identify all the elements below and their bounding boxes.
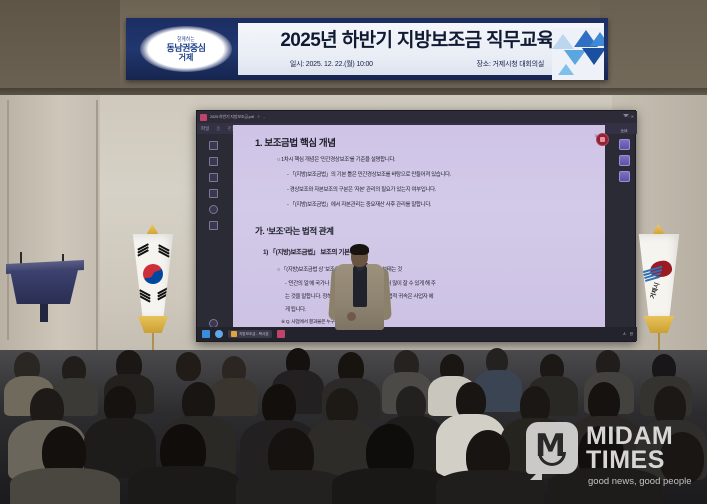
taskbar-tray: A 한 <box>623 332 633 337</box>
projection-screen: 2025 하반기 지방보조금.pdf ＋ ▫ ─ ▫ ✕ 파일 홈 편집 홈 편… <box>196 110 636 342</box>
windows-icon[interactable] <box>202 330 210 338</box>
right-rail-label: 全体 <box>620 129 627 134</box>
thumbnail-icon[interactable] <box>209 173 218 182</box>
banner-place: 장소: 거제시청 대회의실 <box>477 59 545 69</box>
tab-add-icon[interactable]: ＋ <box>257 114 261 120</box>
midam-times-watermark: M MIDAM TIMES good news, good people <box>526 418 696 486</box>
banner-white-panel: 2025년 하반기 지방보조금 직무교육 일시: 2025. 12. 22.(월… <box>238 23 604 75</box>
wall-panel-right <box>600 0 707 95</box>
podium-leg <box>40 304 48 322</box>
watermark-badge: M <box>526 422 578 474</box>
watermark-tagline: good news, good people <box>588 476 692 487</box>
flag-fringe-left <box>135 316 171 333</box>
city-slogan-emblem: 함께하는 동남권중심 거제 <box>140 26 232 72</box>
page-icon[interactable] <box>209 141 218 150</box>
record-icon[interactable] <box>596 133 609 146</box>
search-icon[interactable] <box>209 205 218 214</box>
right-tool-rail: 全体 <box>617 129 631 182</box>
banner-subtitle-row: 일시: 2025. 12. 22.(월) 10:00 장소: 거제시청 대회의실 <box>238 57 596 71</box>
taskbar-app-label: 지방보조금 - 복사본 <box>239 332 269 337</box>
pdf-app-icon <box>200 114 207 121</box>
conference-hall-photo: 함께하는 동남권중심 거제 2025년 하반기 지방보조금 직무교육 일시: 2… <box>0 0 707 504</box>
emblem-line-3: 거제 <box>179 54 194 62</box>
bookmark-icon[interactable] <box>209 157 218 166</box>
podium-body: 거제시청 <box>10 270 78 304</box>
audience-torso-front <box>10 468 120 504</box>
slide-canvas: 5 1. 보조금법 핵심 개념 ○ 1차시 핵심 개념은 ‘민간경상보조’를 기… <box>233 125 605 330</box>
taskbar-app-folder[interactable]: 지방보조금 - 복사본 <box>228 330 272 338</box>
slide-subheading: 가. ‘보조’라는 법적 관계 <box>255 225 334 237</box>
city-flag-label: 거제시 <box>647 281 661 300</box>
chevron-down-icon[interactable] <box>623 114 629 117</box>
tray-lang-ko[interactable]: 한 <box>630 332 633 337</box>
grid-icon[interactable] <box>619 171 630 182</box>
windows-taskbar: 지방보조금 - 복사본 A 한 <box>197 327 637 341</box>
tab-extra-icon[interactable]: ▫ <box>264 115 265 120</box>
speaker-hand <box>347 312 356 321</box>
audience-torso <box>210 378 258 416</box>
emblem-line-2: 동남권중심 <box>167 44 206 53</box>
slide-bullet-1: - 「(지방)보조금법」의 기본 틀은 민간경상보조를 바탕으로 만들어져 있습… <box>287 170 451 178</box>
settings-icon[interactable] <box>209 221 218 230</box>
slide-bullet-0: ○ 1차시 핵심 개념은 ‘민간경상보조’를 기준을 설명합니다. <box>277 155 395 163</box>
door-seam-left <box>7 100 9 340</box>
app-titlebar: 2025 하반기 지방보조금.pdf ＋ ▫ ─ ▫ ✕ <box>197 111 637 123</box>
present-icon[interactable] <box>619 139 630 150</box>
pdf-icon[interactable] <box>277 330 285 338</box>
speaker-hair <box>350 244 369 255</box>
audience-torso-front <box>332 468 450 504</box>
tray-lang-a[interactable]: A <box>623 332 625 337</box>
door-seam-right <box>96 100 98 350</box>
emblem-line-1: 함께하는 <box>177 36 195 43</box>
flag-cloth-left <box>130 234 176 320</box>
audience-head <box>176 352 201 381</box>
taeguk-symbol <box>143 264 163 284</box>
wall-panel-left <box>0 0 120 95</box>
flag-cloth-right: 거제시 <box>636 234 682 320</box>
banner-date: 일시: 2025. 12. 22.(월) 10:00 <box>290 59 373 69</box>
pointer-icon[interactable] <box>619 155 630 166</box>
slide-bullet-2: - 경상보조와 자본보조의 구분은 ‘자본’ 관리의 필요가 있는지 여부입니다… <box>287 185 436 193</box>
slide-subbullet-3: 게 됩니다. <box>285 305 306 313</box>
korean-national-flag <box>130 224 176 336</box>
left-tool-rail <box>200 137 226 317</box>
search-icon[interactable] <box>215 330 223 338</box>
slide-heading: 1. 보조금법 핵심 개념 <box>255 135 336 149</box>
geoje-city-flag: 거제시 <box>636 224 682 336</box>
banner-title: 2025년 하반기 지방보조금 직무교육 <box>242 28 592 54</box>
banner-geometric-decoration <box>552 28 604 80</box>
slide-sub-item: 1) 「(지방)보조금법」 보조의 기본 개념 <box>263 247 362 256</box>
app-title: 2025 하반기 지방보조금.pdf <box>210 114 254 120</box>
menu-item-home[interactable]: 홈 <box>216 126 220 132</box>
pen-icon[interactable] <box>209 189 218 198</box>
watermark-line-2: TIMES <box>586 448 665 473</box>
menu-item-file[interactable]: 파일 <box>201 126 209 132</box>
podium-microphone-left <box>20 252 22 264</box>
event-banner: 함께하는 동남권중심 거제 2025년 하반기 지방보조금 직무교육 일시: 2… <box>126 18 608 80</box>
speaker-shirt <box>353 265 367 307</box>
menu-left-group: 파일 홈 편집 <box>197 126 236 132</box>
audience-torso-front <box>128 466 240 504</box>
slide-bullet-3: - 「(지방)보조금법」에서 자본관리는 중요재산 사후 관리를 말합니다. <box>287 200 431 208</box>
flag-fringe-right <box>641 316 677 333</box>
folder-icon <box>231 331 237 337</box>
